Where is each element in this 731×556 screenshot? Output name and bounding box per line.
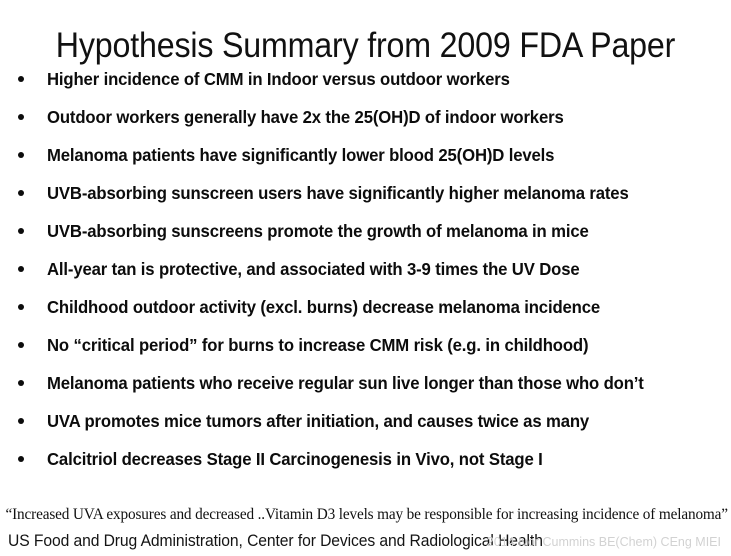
bullet-point-icon [18,266,24,272]
list-item: Melanoma patients who receive regular su… [0,364,731,402]
list-item: Melanoma patients have significantly low… [0,136,731,174]
list-item-label: Melanoma patients who receive regular su… [47,373,700,393]
list-item: UVB-absorbing sunscreen users have signi… [0,174,731,212]
list-item: Calcitriol decreases Stage II Carcinogen… [0,440,731,478]
bullet-point-icon [18,114,24,120]
list-item-label: Melanoma patients have significantly low… [47,145,700,165]
list-item: Outdoor workers generally have 2x the 25… [0,98,731,136]
bullet-point-icon [18,152,24,158]
list-item-label: Higher incidence of CMM in Indoor versus… [47,69,700,89]
list-item: Higher incidence of CMM in Indoor versus… [0,60,731,98]
hypothesis-bullet-list: Higher incidence of CMM in Indoor versus… [0,60,731,478]
bullet-point-icon [18,342,24,348]
list-item-label: UVB-absorbing sunscreen users have signi… [47,183,700,203]
footer-author-credit: 2014 Ivor Cummins BE(Chem) CEng MIEI [487,534,721,550]
bullet-point-icon [18,456,24,462]
list-item-label: All-year tan is protective, and associat… [47,259,700,279]
list-item: No “critical period” for burns to increa… [0,326,731,364]
list-item-label: No “critical period” for burns to increa… [47,335,700,355]
footer-source-attribution: US Food and Drug Administration, Center … [8,531,543,551]
slide-canvas: Hypothesis Summary from 2009 FDA Paper H… [0,0,731,556]
list-item-label: Childhood outdoor activity (excl. burns)… [47,297,700,317]
list-item-label: Outdoor workers generally have 2x the 25… [47,107,700,127]
bullet-point-icon [18,76,24,82]
bullet-point-icon [18,304,24,310]
list-item-label: Calcitriol decreases Stage II Carcinogen… [47,449,700,469]
bullet-point-icon [18,190,24,196]
list-item: UVA promotes mice tumors after initiatio… [0,402,731,440]
bullet-point-icon [18,228,24,234]
list-item: UVB-absorbing sunscreens promote the gro… [0,212,731,250]
list-item: Childhood outdoor activity (excl. burns)… [0,288,731,326]
list-item: All-year tan is protective, and associat… [0,250,731,288]
list-item-label: UVB-absorbing sunscreens promote the gro… [47,221,700,241]
footer-quote: “Increased UVA exposures and decreased .… [5,505,725,525]
bullet-point-icon [18,380,24,386]
bullet-point-icon [18,418,24,424]
list-item-label: UVA promotes mice tumors after initiatio… [47,411,700,431]
